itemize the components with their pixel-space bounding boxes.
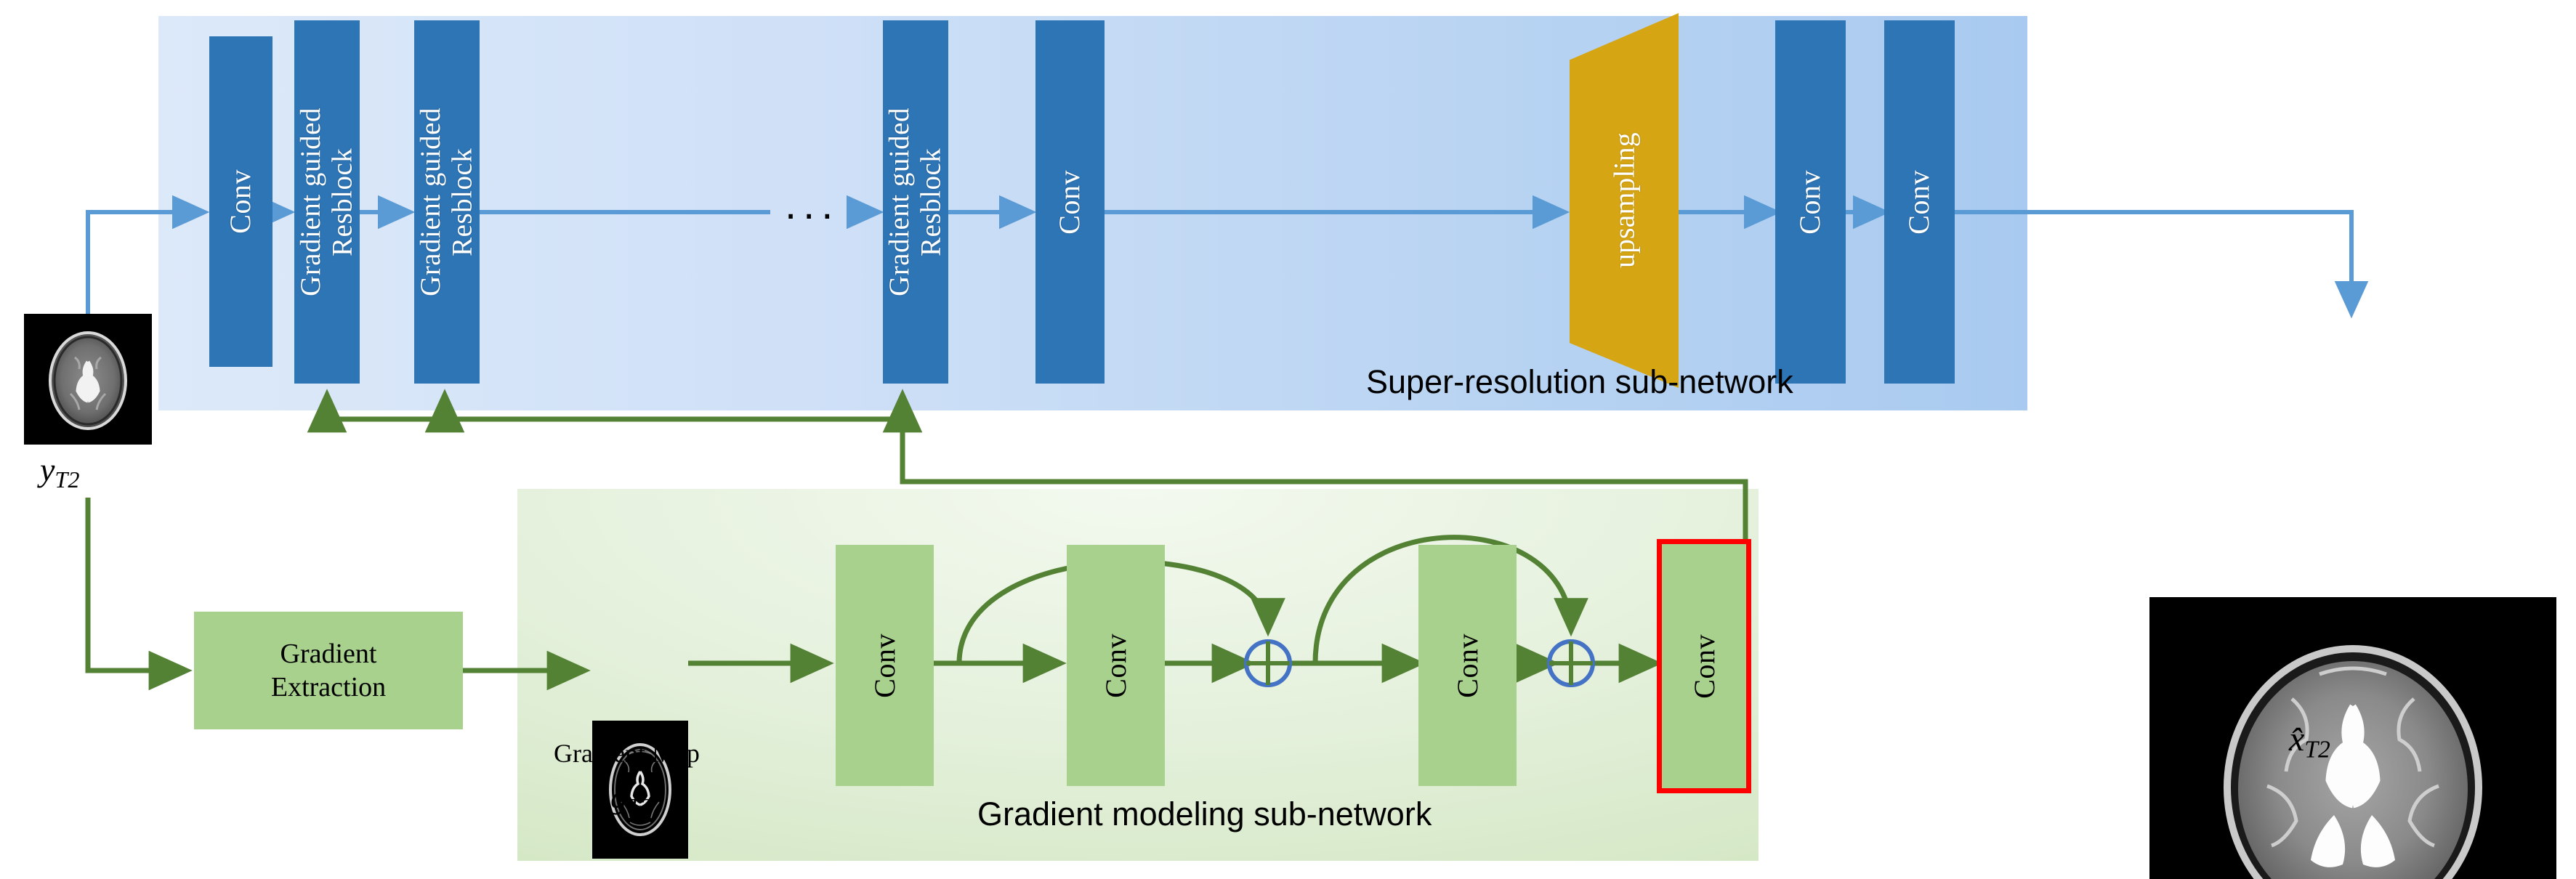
output-image-x-hat-t2 [2149, 597, 2556, 879]
gm-block-conv-4-fill: Conv [1662, 544, 1746, 788]
input-caption-sub: T2 [54, 466, 79, 493]
gm-block-conv-1-label: Conv [868, 633, 902, 698]
gm-block-conv-2-label: Conv [1099, 633, 1133, 698]
sr-block-gradient-guided-resblock-2-label: Gradient guided Resblock [415, 108, 478, 296]
gm-block-conv-1[interactable]: Conv [836, 545, 934, 786]
ellipsis: ... [785, 180, 839, 229]
sr-block-conv-4-label: Conv [1903, 170, 1936, 235]
gradient-extraction-label: Gradient Extraction [271, 637, 386, 705]
sr-block-upsampling[interactable]: upsampling [1570, 13, 1679, 388]
gradient-caption-main: g [610, 778, 627, 815]
gradient-map-title: Gradient Map [554, 738, 700, 769]
sr-block-conv-4[interactable]: Conv [1884, 20, 1955, 384]
gm-block-conv-3-label: Conv [1450, 633, 1485, 698]
sr-block-conv-3-label: Conv [1794, 170, 1827, 235]
output-caption-main: x̂ [2289, 720, 2304, 758]
sr-block-gradient-guided-resblock-3-label: Gradient guided Resblock [884, 108, 947, 296]
input-image-y-t2 [24, 314, 152, 445]
gradient-modeling-subnetwork-title: Gradient modeling sub-network [977, 795, 1432, 833]
input-image-caption: yT2 [40, 450, 79, 493]
sr-block-conv-1[interactable]: Conv [209, 36, 272, 367]
gm-block-conv-3[interactable]: Conv [1418, 545, 1517, 786]
figure-canvas: Conv Gradient guided Resblock Gradient g… [0, 0, 2576, 879]
gradient-caption-sub: T2 [627, 793, 652, 819]
sr-block-gradient-guided-resblock-1[interactable]: Gradient guided Resblock [294, 20, 360, 384]
sr-block-gradient-guided-resblock-3[interactable]: Gradient guided Resblock [883, 20, 948, 384]
sr-block-gradient-guided-resblock-1-label: Gradient guided Resblock [295, 108, 358, 296]
sr-block-conv-3[interactable]: Conv [1775, 20, 1846, 384]
gradient-extraction-block[interactable]: Gradient Extraction [194, 612, 463, 729]
sr-block-conv-2-label: Conv [1054, 170, 1086, 235]
output-image-caption: x̂T2 [2289, 719, 2330, 763]
output-brain-mri [2149, 597, 2556, 879]
gm-block-conv-4-highlighted[interactable]: Conv [1657, 539, 1751, 793]
output-caption-sub: T2 [2304, 736, 2330, 763]
gradient-map-caption: gT2 [610, 777, 652, 820]
sr-block-conv-1-label: Conv [225, 169, 257, 234]
super-resolution-subnetwork-title: Super-resolution sub-network [1366, 363, 1793, 401]
input-brain-mri [24, 314, 152, 445]
input-caption-main: y [40, 451, 54, 488]
gm-block-conv-4-label: Conv [1687, 634, 1721, 699]
sr-block-gradient-guided-resblock-2[interactable]: Gradient guided Resblock [414, 20, 480, 384]
sr-block-upsampling-label: upsampling [1570, 13, 1679, 388]
gm-block-conv-2[interactable]: Conv [1067, 545, 1165, 786]
sr-block-conv-2[interactable]: Conv [1035, 20, 1105, 384]
